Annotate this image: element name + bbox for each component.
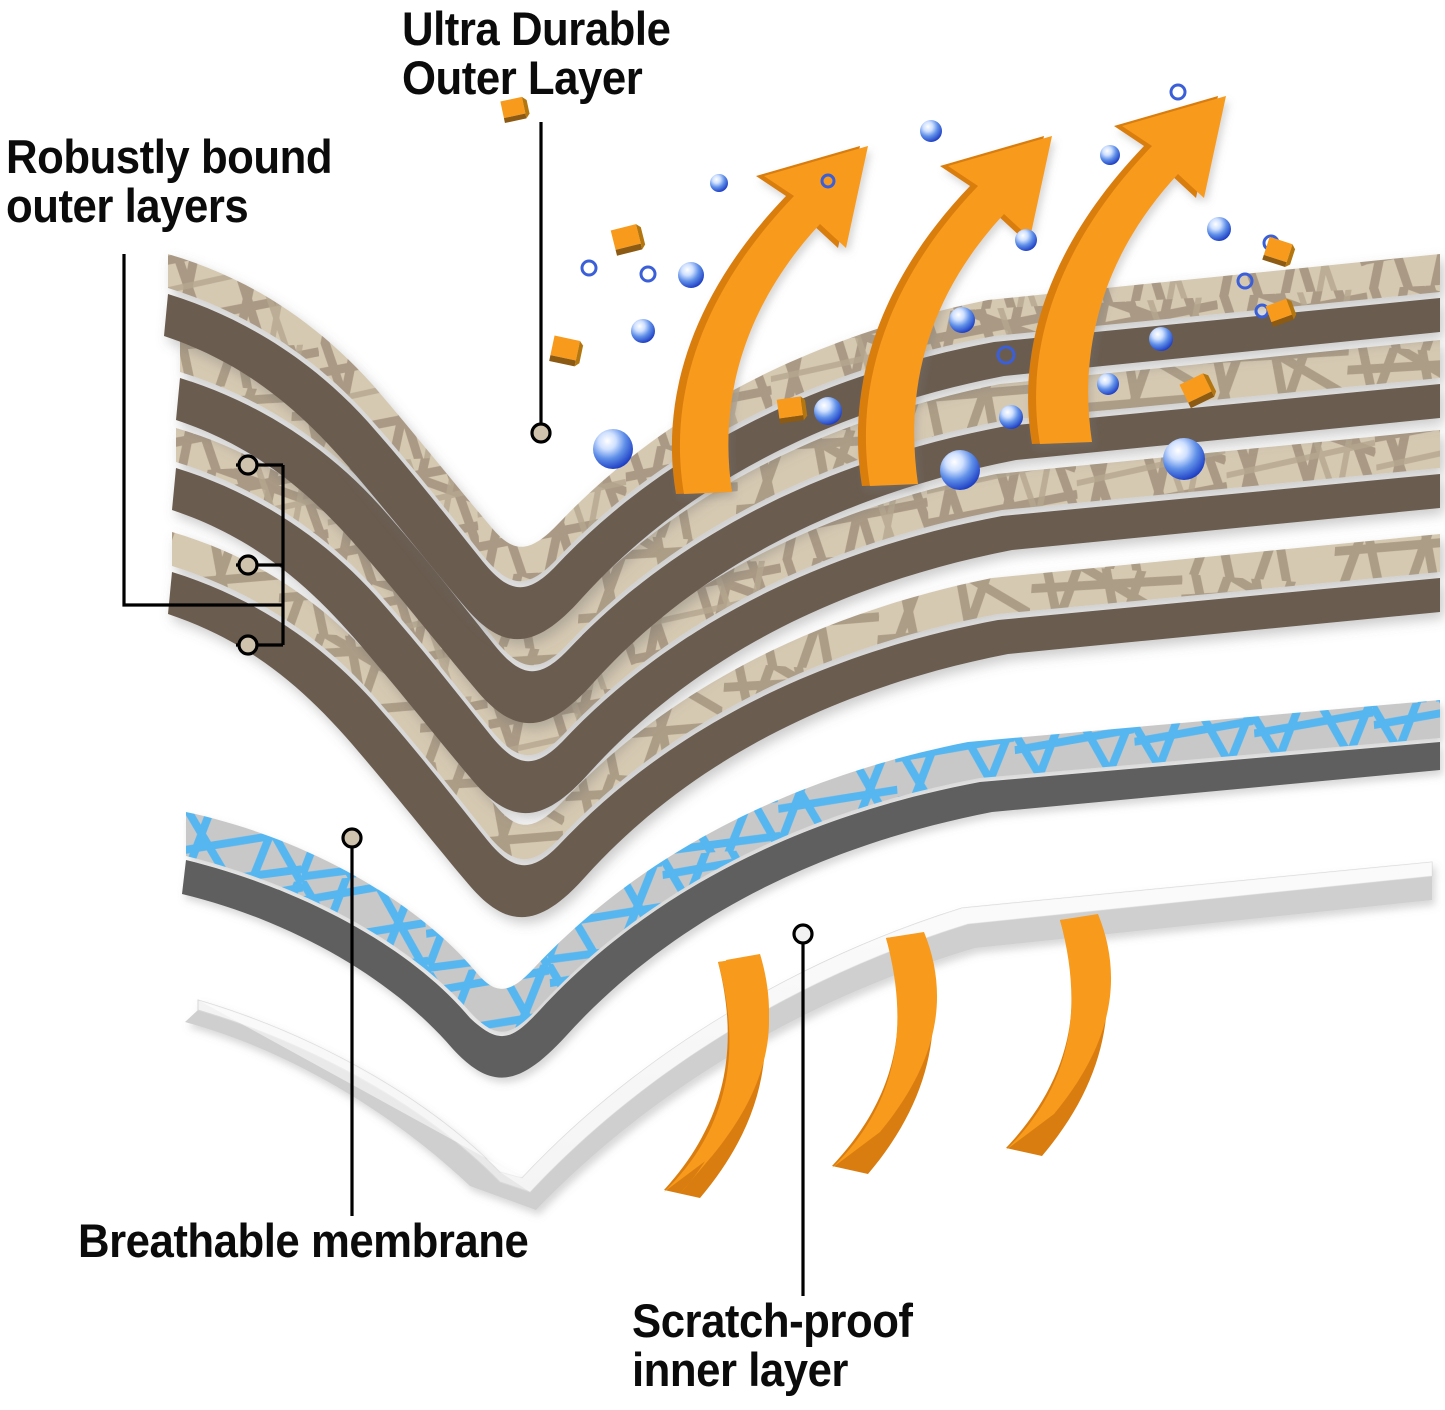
leader-ultra-durable[interactable]: [532, 122, 550, 442]
dirt-cube: [1262, 237, 1296, 268]
dirt-cube: [611, 223, 646, 255]
dirt-cube: [777, 396, 808, 424]
diagram-canvas: Ultra Durable Outer Layer Robustly bound…: [0, 0, 1445, 1410]
dirt-cube: [549, 336, 584, 368]
label-robustly-bound-outer-layers: Robustly bound outer layers: [6, 132, 332, 231]
airflow-arrow-down-3: [1006, 914, 1111, 1156]
label-ultra-durable-outer-layer: Ultra Durable Outer Layer: [402, 4, 670, 103]
label-scratch-proof-inner-layer: Scratch-proof inner layer: [632, 1296, 913, 1395]
label-breathable-membrane: Breathable membrane: [78, 1216, 528, 1265]
